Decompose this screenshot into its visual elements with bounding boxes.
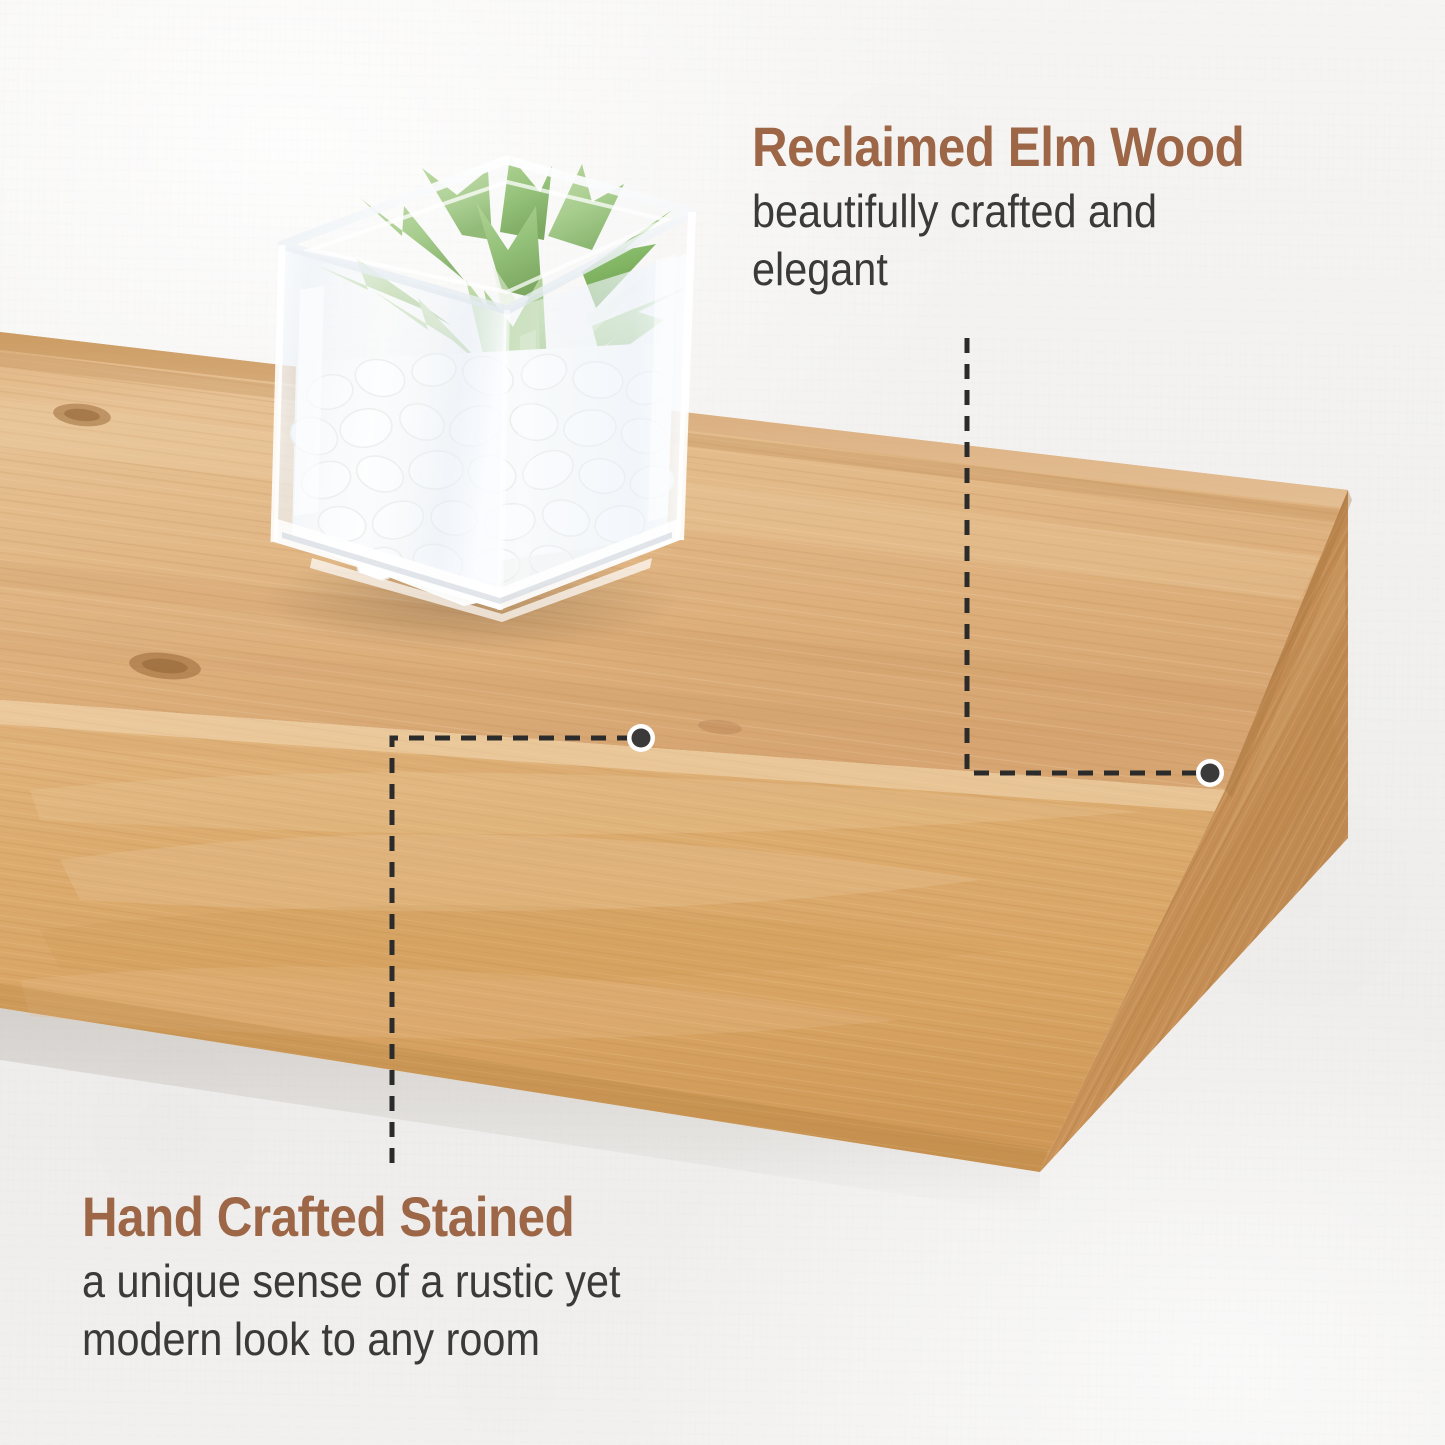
callout-heading-reclaimed-elm-wood: Reclaimed Elm Wood	[752, 116, 1368, 178]
callout-text-hand-crafted-stained: Hand Crafted Stained a unique sense of a…	[82, 1186, 902, 1368]
callout-body-reclaimed-elm-wood: beautifully crafted and elegant	[752, 182, 1382, 298]
callout-text-reclaimed-elm-wood: Reclaimed Elm Wood beautifully crafted a…	[752, 116, 1445, 298]
glass-cube	[274, 160, 692, 622]
callout-heading-hand-crafted-stained: Hand Crafted Stained	[82, 1186, 804, 1248]
glass-cube-planter	[252, 140, 712, 630]
product-feature-image: Reclaimed Elm Wood beautifully crafted a…	[0, 0, 1445, 1445]
callout-body-hand-crafted-stained: a unique sense of a rustic yet modern lo…	[82, 1252, 820, 1368]
